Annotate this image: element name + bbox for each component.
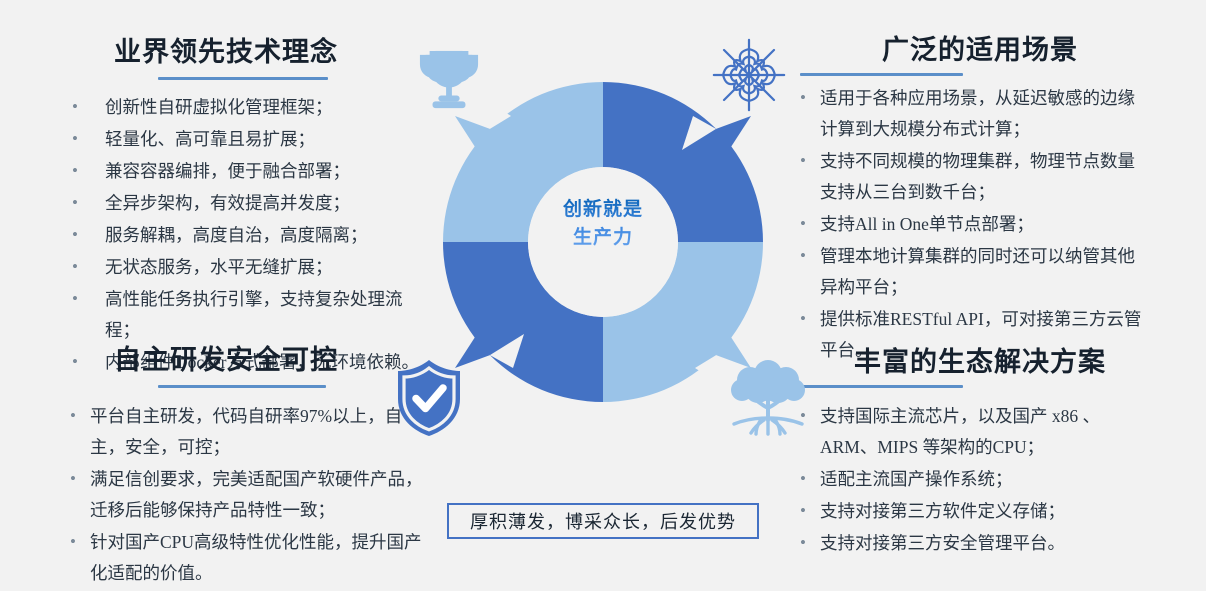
list-item: 管理本地计算集群的同时还可以纳管其他异构平台； [800, 241, 1148, 303]
list-item: 支持对接第三方安全管理平台。 [800, 528, 1152, 559]
list-item: 支持All in One单节点部署； [800, 209, 1148, 240]
shield-check-icon [393, 358, 465, 438]
list-item: 创新性自研虚拟化管理框架； [70, 92, 430, 123]
title-underline-top-left [158, 77, 328, 80]
bullet-list-top-left: 创新性自研虚拟化管理框架； 轻量化、高可靠且易扩展； 兼容容器编排，便于融合部署… [70, 92, 430, 378]
list-item: 全异步架构，有效提高并发度； [70, 188, 430, 219]
quadrant-title-bottom-left: 自主研发安全可控 [70, 346, 382, 376]
center-line-2: 生产力 [433, 224, 773, 252]
trophy-icon [418, 44, 480, 116]
quadrant-bottom-right: 丰富的生态解决方案 支持国际主流芯片，以及国产 x86 、ARM、MIPS 等架… [800, 348, 1152, 560]
list-item: 高性能任务执行引擎，支持复杂处理流程； [70, 284, 430, 346]
list-item: 支持不同规模的物理集群，物理节点数量支持从三台到数千台； [800, 146, 1148, 208]
list-item: 适用于各种应用场景，从延迟敏感的边缘计算到大规模分布式计算； [800, 83, 1148, 145]
title-underline-top-right [800, 73, 963, 76]
donut-center-label: 创新就是 生产力 [433, 196, 773, 252]
slogan-text: 厚积薄发，博采众长，后发优势 [470, 508, 736, 534]
center-line-1: 创新就是 [433, 196, 773, 224]
spider-web-icon [712, 38, 786, 112]
quadrant-title-top-right: 广泛的适用场景 [820, 36, 1140, 66]
list-item: 支持对接第三方软件定义存储； [800, 496, 1152, 527]
title-underline-bottom-left [158, 385, 326, 388]
bullet-list-bottom-left: 平台自主研发，代码自研率97%以上，自主，安全，可控； 满足信创要求，完美适配国… [70, 401, 430, 589]
list-item: 适配主流国产操作系统； [800, 464, 1152, 495]
quadrant-top-right: 广泛的适用场景 适用于各种应用场景，从延迟敏感的边缘计算到大规模分布式计算； 支… [800, 36, 1148, 367]
list-item: 针对国产CPU高级特性优化性能，提升国产化适配的价值。 [70, 527, 430, 589]
title-underline-bottom-right [800, 385, 963, 388]
slide-canvas: 业界领先技术理念 创新性自研虚拟化管理框架； 轻量化、高可靠且易扩展； 兼容容器… [0, 0, 1206, 591]
list-item: 满足信创要求，完美适配国产软硬件产品，迁移后能够保持产品特性一致； [70, 464, 430, 526]
donut-diagram: 创新就是 生产力 [433, 72, 773, 412]
list-item: 轻量化、高可靠且易扩展； [70, 124, 430, 155]
list-item: 服务解耦，高度自治，高度隔离； [70, 220, 430, 251]
quadrant-title-bottom-right: 丰富的生态解决方案 [820, 348, 1140, 378]
list-item: 平台自主研发，代码自研率97%以上，自主，安全，可控； [70, 401, 430, 463]
bullet-list-top-right: 适用于各种应用场景，从延迟敏感的边缘计算到大规模分布式计算； 支持不同规模的物理… [800, 83, 1148, 366]
quadrant-bottom-left: 自主研发安全可控 平台自主研发，代码自研率97%以上，自主，安全，可控； 满足信… [70, 346, 430, 590]
tree-icon [726, 358, 810, 438]
bullet-list-bottom-right: 支持国际主流芯片，以及国产 x86 、ARM、MIPS 等架构的CPU； 适配主… [800, 401, 1152, 559]
quadrant-title-top-left: 业界领先技术理念 [70, 38, 382, 68]
slogan-box: 厚积薄发，博采众长，后发优势 [447, 503, 759, 539]
list-item: 无状态服务，水平无缝扩展； [70, 252, 430, 283]
list-item: 支持国际主流芯片，以及国产 x86 、ARM、MIPS 等架构的CPU； [800, 401, 1152, 463]
quadrant-top-left: 业界领先技术理念 创新性自研虚拟化管理框架； 轻量化、高可靠且易扩展； 兼容容器… [70, 38, 430, 379]
list-item: 兼容容器编排，便于融合部署； [70, 156, 430, 187]
